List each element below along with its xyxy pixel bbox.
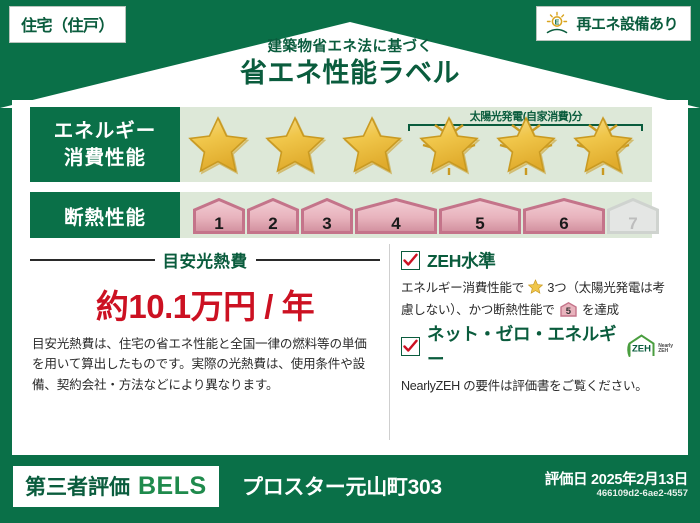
grade-number: 3 xyxy=(322,215,331,232)
evaluation-id: 466109d2-6ae2-4557 xyxy=(597,488,688,499)
star-6-icon xyxy=(571,115,648,181)
net-zero-energy-title: ネット・ゼロ・エネルギー xyxy=(427,321,616,371)
zeh-standard-title: ZEH水準 xyxy=(427,248,496,273)
net-zero-energy-item: ネット・ゼロ・エネルギー ZEH Nearly ZEH NearlyZEH xyxy=(401,321,673,396)
utility-cost-heading: 目安光熱費 xyxy=(30,248,380,272)
heading-rule-right xyxy=(256,259,381,261)
zeh-standard-checkbox[interactable] xyxy=(401,251,420,270)
title-block: 建築物省エネ法に基づく 省エネ性能ラベル xyxy=(0,40,700,91)
renewable-equipment-badge: E 再エネ設備あり xyxy=(536,6,691,41)
zeh-standard-header: ZEH水準 xyxy=(401,248,673,273)
zeh-logo-caption: Nearly ZEH xyxy=(658,344,673,359)
third-party-label: 第三者評価 xyxy=(25,471,130,501)
zeh-standard-item: ZEH水準 エネルギー消費性能で 3つ（太陽光発電は考慮しない）、かつ断熱性能で… xyxy=(401,248,673,321)
svg-text:ZEH: ZEH xyxy=(632,344,651,355)
grade-number: 6 xyxy=(559,215,568,232)
label-lower-section: 目安光熱費 約10.1万円 / 年 目安光熱費は、住宅の省エネ性能と全国一律の燃… xyxy=(12,248,688,455)
insulation-performance-label: 断熱性能 xyxy=(30,192,180,238)
star-icon xyxy=(528,279,543,300)
star-5-icon xyxy=(494,115,571,181)
grade-number: 7 xyxy=(628,215,637,232)
insulation-grade-inline-badge: 5 xyxy=(560,302,577,317)
insulation-grade-1: 1 xyxy=(193,198,245,234)
utility-cost-value: 約10.1万円 / 年 xyxy=(30,280,380,328)
star-2-icon xyxy=(263,115,340,181)
star-4-icon xyxy=(417,115,494,181)
label-footer: 第三者評価 BELS プロスター元山町303 評価日 2025年2月13日 46… xyxy=(0,462,700,523)
property-name: プロスター元山町303 xyxy=(242,471,442,501)
star-1-icon xyxy=(186,115,263,181)
zeh-logo-caption-line2: ZEH xyxy=(658,348,668,354)
insulation-grade-7: 7 xyxy=(607,198,659,234)
utility-cost-block: 目安光熱費 約10.1万円 / 年 xyxy=(30,248,380,328)
inline-grade-number: 5 xyxy=(560,304,577,319)
insulation-grade-3: 3 xyxy=(301,198,353,234)
label-card: エネルギー 消費性能 太陽光発電(自家消費)分 xyxy=(12,100,688,455)
bels-label: BELS xyxy=(138,472,207,501)
star-3-icon xyxy=(340,115,417,181)
insulation-grade-2: 2 xyxy=(247,198,299,234)
net-zero-energy-header: ネット・ゼロ・エネルギー ZEH Nearly ZEH xyxy=(401,321,673,371)
insulation-grade-scale: 1 2 xyxy=(193,197,659,234)
heading-rule-left xyxy=(30,259,155,261)
insulation-performance-row: 断熱性能 1 xyxy=(30,192,652,238)
housing-type-chip: 住宅（住戸） xyxy=(9,6,126,43)
energy-consumption-row: エネルギー 消費性能 太陽光発電(自家消費)分 xyxy=(30,107,652,182)
energy-consumption-label: エネルギー 消費性能 xyxy=(30,107,180,182)
grade-number: 1 xyxy=(214,215,223,232)
grade-number: 5 xyxy=(475,215,484,232)
check-icon xyxy=(403,339,418,354)
utility-cost-heading-text: 目安光熱費 xyxy=(163,248,248,272)
star-rating xyxy=(186,115,648,181)
column-divider xyxy=(389,244,390,440)
energy-consumption-panel: 太陽光発電(自家消費)分 xyxy=(180,107,652,182)
evaluation-date: 評価日 2025年2月13日 xyxy=(545,468,688,489)
grade-number: 2 xyxy=(268,215,277,232)
energy-label-line1: エネルギー xyxy=(54,118,157,144)
net-zero-energy-body: NearlyZEH の要件は評価書をご覧ください。 xyxy=(401,376,673,396)
grade-number: 4 xyxy=(391,215,400,232)
insulation-grade-6: 6 xyxy=(523,198,605,234)
insulation-grade-5: 5 xyxy=(439,198,521,234)
net-zero-energy-checkbox[interactable] xyxy=(401,337,420,356)
zeh-body-part1: エネルギー消費性能で xyxy=(401,281,524,295)
energy-performance-label: 住宅（住戸） E 再エネ設備あり 建築物省エネ法に基づく 省エネ性能ラベル エネ… xyxy=(0,0,700,523)
zeh-body-part3: を達成 xyxy=(582,303,619,317)
check-icon xyxy=(403,253,418,268)
insulation-performance-panel: 1 2 xyxy=(180,192,652,238)
energy-label-line2: 消費性能 xyxy=(64,145,146,171)
svg-text:E: E xyxy=(555,20,560,27)
zeh-standard-body: エネルギー消費性能で 3つ（太陽光発電は考慮しない）、かつ断熱性能で 5 を達成 xyxy=(401,278,673,321)
insulation-grade-4: 4 xyxy=(355,198,437,234)
bels-certification-chip: 第三者評価 BELS xyxy=(13,466,219,507)
label-title: 省エネ性能ラベル xyxy=(0,57,700,91)
zeh-house-logo: ZEH Nearly ZEH xyxy=(626,334,673,358)
sun-icon: E xyxy=(545,11,569,35)
utility-cost-note: 目安光熱費は、住宅の省エネ性能と全国一律の燃料等の単価を用いて算出したものです。… xyxy=(32,334,372,395)
renewable-badge-label: 再エネ設備あり xyxy=(576,13,678,34)
